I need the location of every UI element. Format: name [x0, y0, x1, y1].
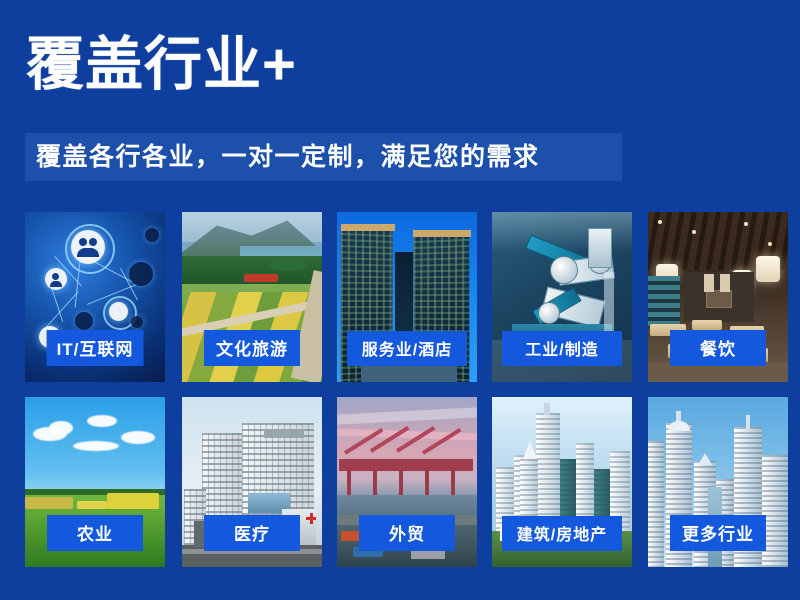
tile-label[interactable]: 服务业/酒店 — [347, 331, 467, 366]
tile-label[interactable]: 建筑/房地产 — [502, 516, 622, 551]
industry-tile-medical[interactable]: 医疗 — [182, 397, 322, 567]
industry-tile-it[interactable]: IT/互联网 — [25, 212, 165, 382]
tile-label[interactable]: 餐饮 — [670, 330, 766, 366]
industry-tile-travel[interactable]: 文化旅游 — [182, 212, 322, 382]
grid-row: IT/互联网 — [0, 212, 800, 382]
page-title: 覆盖行业+ — [26, 36, 297, 94]
industry-tile-more[interactable]: 更多行业 — [648, 397, 788, 567]
industry-tile-realestate[interactable]: 建筑/房地产 — [492, 397, 632, 567]
tile-label[interactable]: 医疗 — [204, 515, 300, 551]
industry-tile-food[interactable]: 餐饮 — [648, 212, 788, 382]
poster-root: 覆盖行业+ 覆盖各行各业，一对一定制，满足您的需求 — [0, 0, 800, 600]
industry-tile-agriculture[interactable]: 农业 — [25, 397, 165, 567]
tile-label[interactable]: 文化旅游 — [204, 330, 300, 366]
industry-grid: IT/互联网 — [0, 212, 800, 582]
grid-row: 农业 医疗 — [0, 397, 800, 567]
subtitle-text: 覆盖各行各业，一对一定制，满足您的需求 — [36, 141, 540, 173]
tile-label[interactable]: 外贸 — [359, 515, 455, 551]
header: 覆盖行业+ 覆盖各行各业，一对一定制，满足您的需求 — [0, 0, 800, 200]
tile-label[interactable]: 更多行业 — [670, 515, 766, 551]
industry-tile-industry[interactable]: 工业/制造 — [492, 212, 632, 382]
tile-label[interactable]: 农业 — [47, 515, 143, 551]
tile-label[interactable]: 工业/制造 — [502, 331, 622, 366]
industry-tile-hotel[interactable]: 服务业/酒店 — [337, 212, 477, 382]
industry-tile-trade[interactable]: 外贸 — [337, 397, 477, 567]
tile-label[interactable]: IT/互联网 — [47, 330, 144, 366]
